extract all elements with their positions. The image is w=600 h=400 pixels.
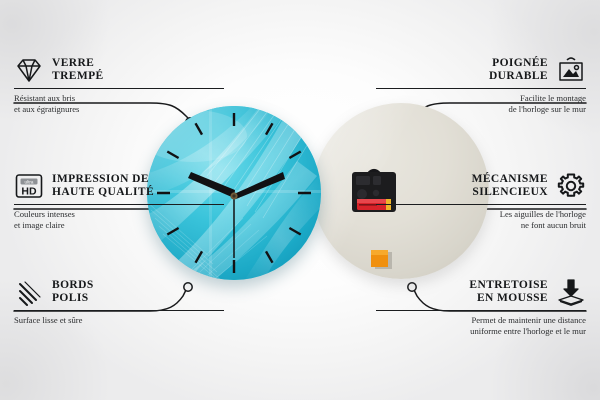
minute-hand [234, 172, 285, 199]
feature-verre-trempe: VERRE TREMPÉ Résistant aux bris et aux é… [14, 56, 224, 114]
divider [14, 310, 224, 311]
infographic-canvas: VERRE TREMPÉ Résistant aux bris et aux é… [0, 0, 600, 400]
feature-title: IMPRESSION DE HAUTE QUALITÉ [52, 173, 154, 200]
feature-title: ENTRETOISE EN MOUSSE [469, 279, 548, 306]
feature-poignee-durable: POIGNÉE DURABLE Facilite le montage de l… [376, 56, 586, 114]
ultra-hd-icon: ultra HD [14, 172, 44, 200]
feature-description: Permet de maintenir une distance uniform… [376, 315, 586, 336]
feature-title: MÉCANISME SILENCIEUX [472, 173, 548, 200]
ultra-label: ultra [25, 180, 34, 185]
feature-description: Surface lisse et sûre [14, 315, 224, 326]
picture-hanger-icon [556, 56, 586, 84]
foam-spacer [366, 249, 396, 275]
feature-description: Résistant aux bris et aux égratignures [14, 93, 224, 114]
divider [14, 88, 224, 89]
feature-title: POIGNÉE DURABLE [489, 57, 548, 84]
feature-title: VERRE TREMPÉ [52, 57, 104, 84]
hd-label: HD [21, 185, 37, 197]
clock-center-hub [230, 192, 237, 199]
foam-spacer-icon [556, 278, 586, 306]
feature-description: Couleurs intenses et image claire [14, 209, 224, 230]
feature-mecanisme-silencieux: MÉCANISME SILENCIEUX Les aiguilles de l'… [376, 172, 586, 230]
feature-bords-polis: BORDS POLIS Surface lisse et sûre [14, 278, 224, 326]
divider [376, 88, 586, 89]
feature-description: Les aiguilles de l'horloge ne font aucun… [376, 209, 586, 230]
divider [14, 204, 224, 205]
polished-edges-icon [14, 278, 44, 306]
divider [376, 310, 586, 311]
leader-dot [186, 118, 194, 126]
diamond-icon [14, 56, 44, 84]
feature-entretoise-en-mousse: ENTRETOISE EN MOUSSE Permet de maintenir… [376, 278, 586, 336]
feature-description: Facilite le montage de l'horloge sur le … [376, 93, 586, 114]
divider [376, 204, 586, 205]
feature-impression-haute-qualite: ultra HD IMPRESSION DE HAUTE QUALITÉ Cou… [14, 172, 224, 230]
feature-title: BORDS POLIS [52, 279, 94, 306]
leader-dot [406, 118, 414, 126]
gear-icon [556, 172, 586, 200]
